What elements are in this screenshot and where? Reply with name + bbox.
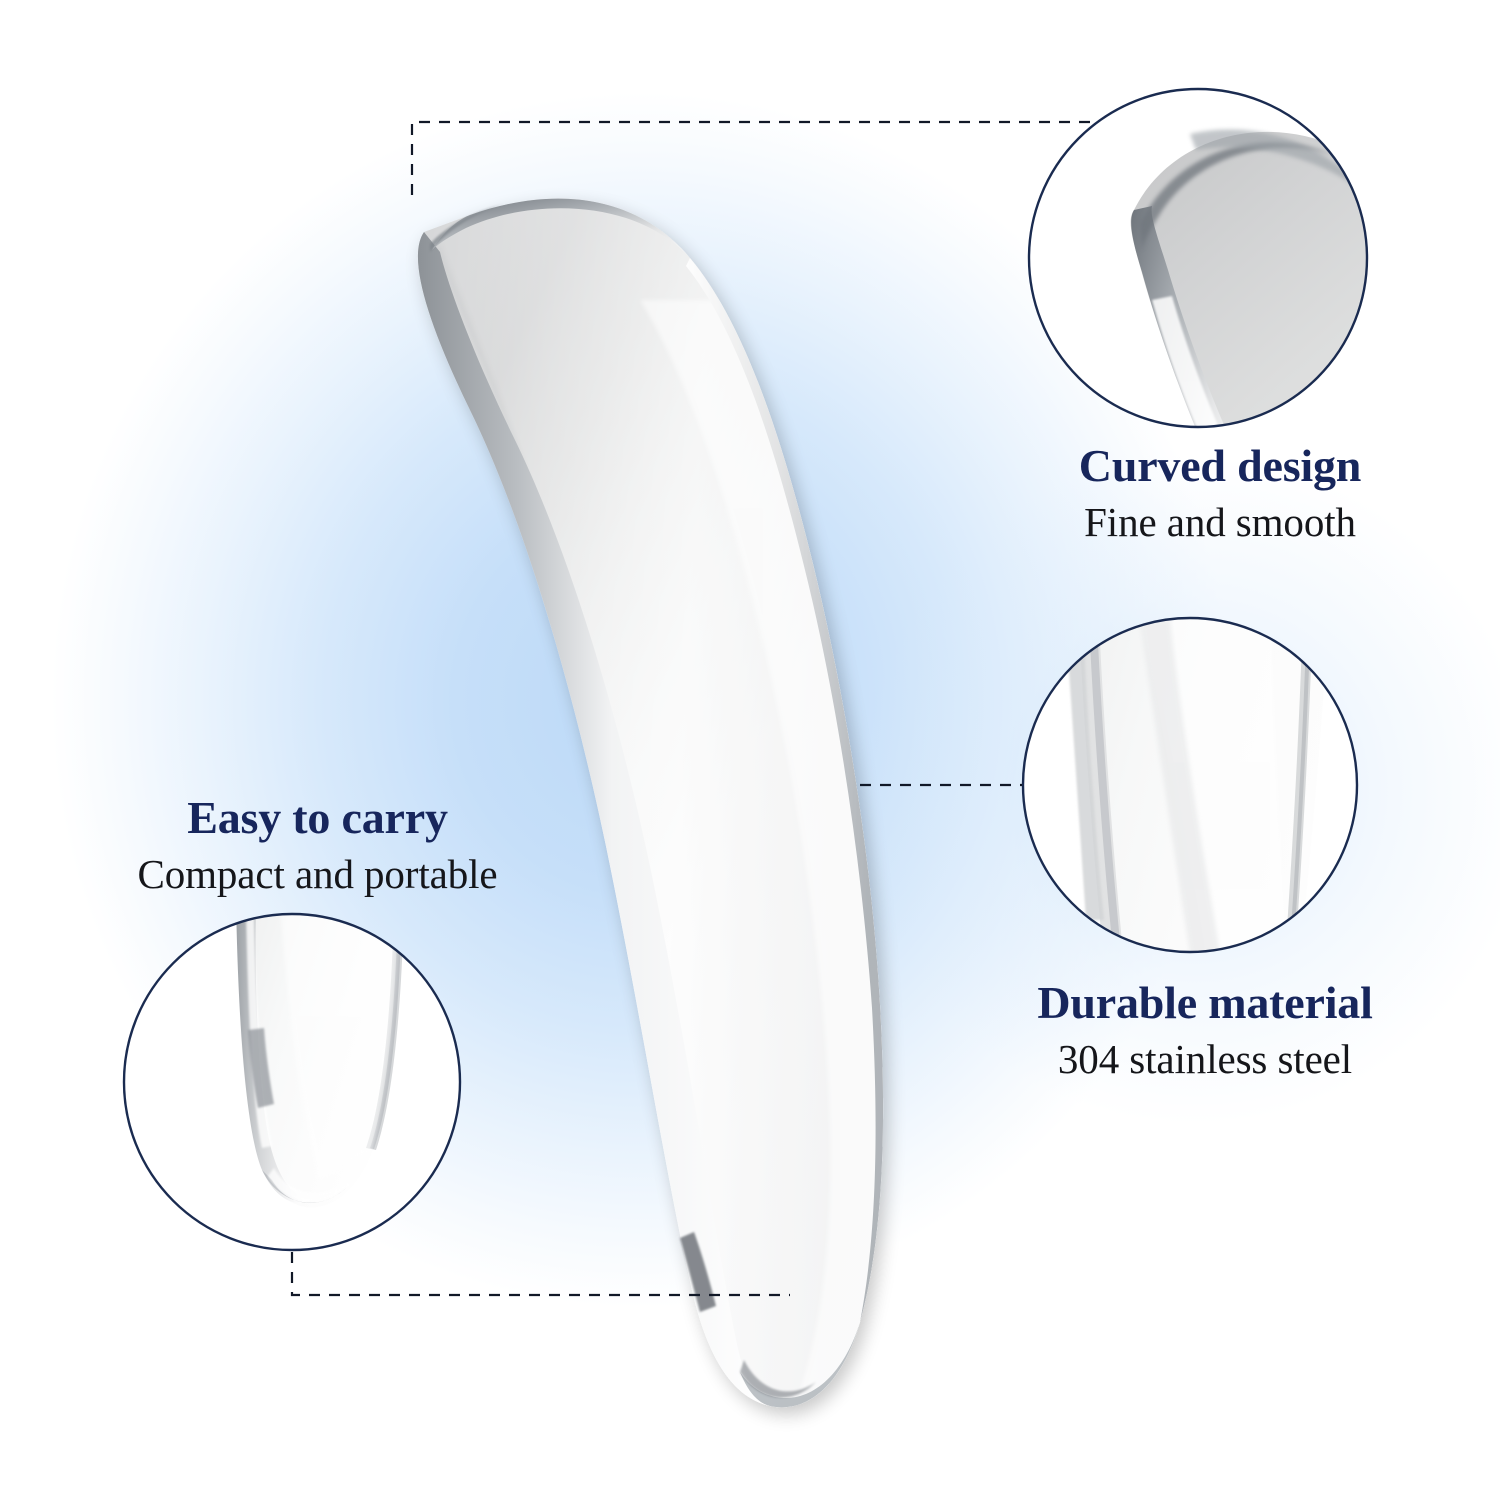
feature-title-durable-material: Durable material bbox=[975, 980, 1435, 1026]
feature-subtitle-easy-to-carry: Compact and portable bbox=[95, 854, 540, 895]
feature-subtitle-curved-design: Fine and smooth bbox=[1020, 502, 1420, 543]
infographic-canvas: Curved design Fine and smooth Durable ma… bbox=[0, 0, 1500, 1500]
feature-subtitle-durable-material: 304 stainless steel bbox=[975, 1039, 1435, 1080]
feature-title-easy-to-carry: Easy to carry bbox=[95, 795, 540, 841]
feature-text-curved-design: Curved design Fine and smooth bbox=[1020, 443, 1420, 543]
feature-title-curved-design: Curved design bbox=[1020, 443, 1420, 489]
connector-lines bbox=[0, 0, 1500, 1500]
connector-top bbox=[412, 122, 1098, 195]
feature-text-durable-material: Durable material 304 stainless steel bbox=[975, 980, 1435, 1080]
feature-text-easy-to-carry: Easy to carry Compact and portable bbox=[95, 795, 540, 895]
connector-bottom bbox=[292, 1252, 790, 1295]
